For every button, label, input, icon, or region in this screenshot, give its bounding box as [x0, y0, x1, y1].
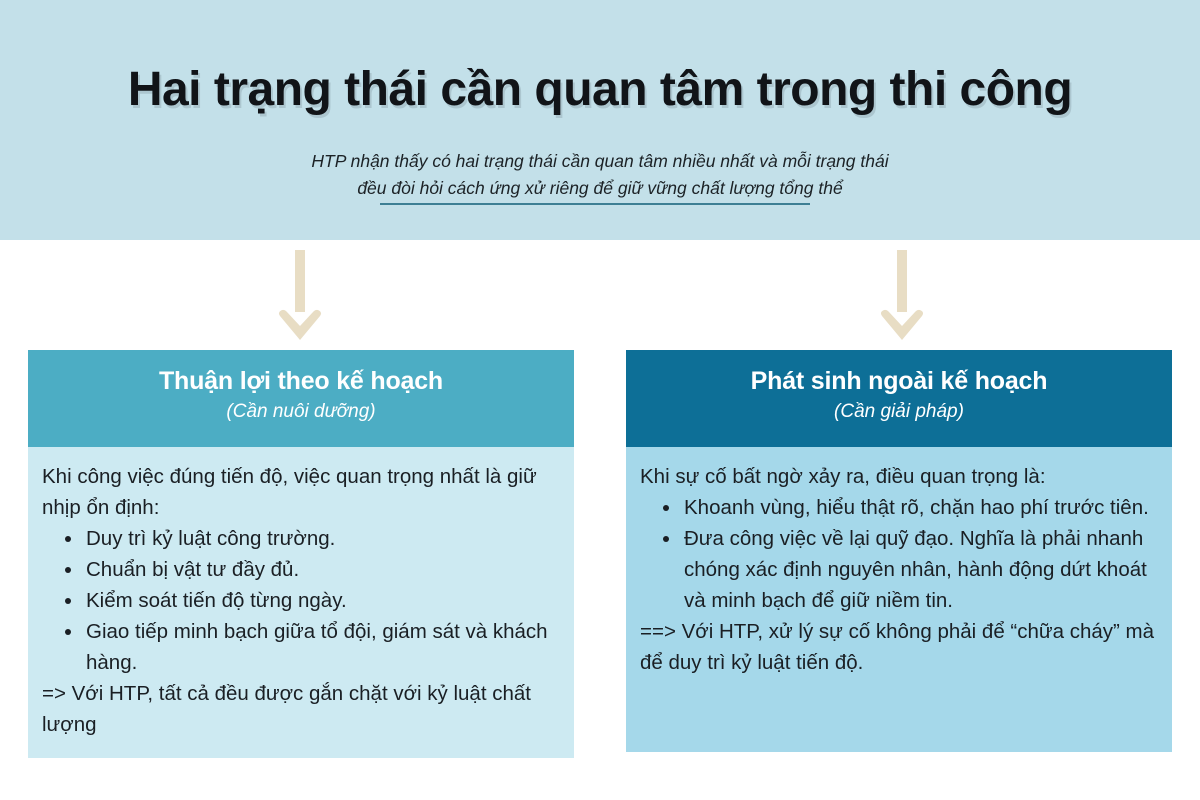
list-item: Chuẩn bị vật tư đầy đủ.: [84, 554, 558, 585]
list-item: Giao tiếp minh bạch giữa tổ đội, giám sá…: [84, 616, 558, 678]
card-intro-left: Khi công việc đúng tiến độ, việc quan tr…: [42, 461, 558, 523]
card-bullet-list-right: Khoanh vùng, hiểu thật rõ, chặn hao phí …: [640, 492, 1156, 616]
card-header-right: Phát sinh ngoài kế hoạch (Cần giải pháp): [626, 350, 1172, 447]
subtitle-underline-rule: [380, 203, 810, 205]
arrow-down-icon-right: [879, 250, 925, 345]
card-thuan-loi-theo-ke-hoach: Thuận lợi theo kế hoạch (Cần nuôi dưỡng)…: [28, 350, 574, 758]
list-item: Duy trì kỷ luật công trường.: [84, 523, 558, 554]
card-bullet-list-left: Duy trì kỷ luật công trường. Chuẩn bị vậ…: [42, 523, 558, 678]
arrow-down-icon: [879, 250, 925, 345]
page-subtitle-line-1: HTP nhận thấy có hai trạng thái cần quan…: [0, 148, 1200, 175]
header-band: Hai trạng thái cần quan tâm trong thi cô…: [0, 0, 1200, 240]
card-body-left: Khi công việc đúng tiến độ, việc quan tr…: [28, 447, 574, 758]
page-title: Hai trạng thái cần quan tâm trong thi cô…: [0, 62, 1200, 117]
card-intro-right: Khi sự cố bất ngờ xảy ra, điều quan trọn…: [640, 461, 1156, 492]
list-item: Kiểm soát tiến độ từng ngày.: [84, 585, 558, 616]
arrow-down-icon-left: [277, 250, 323, 345]
arrow-down-icon: [277, 250, 323, 345]
card-header-left: Thuận lợi theo kế hoạch (Cần nuôi dưỡng): [28, 350, 574, 447]
page-subtitle-line-2: đều đòi hỏi cách ứng xử riêng để giữ vữn…: [0, 175, 1200, 202]
card-body-right: Khi sự cố bất ngờ xảy ra, điều quan trọn…: [626, 447, 1172, 752]
card-subtitle-right: (Cần giải pháp): [626, 398, 1172, 426]
list-item: Đưa công việc về lại quỹ đạo. Nghĩa là p…: [682, 523, 1156, 616]
card-conclusion-left: => Với HTP, tất cả đều được gắn chặt với…: [42, 678, 558, 740]
page-subtitle: HTP nhận thấy có hai trạng thái cần quan…: [0, 148, 1200, 202]
card-title-right: Phát sinh ngoài kế hoạch: [626, 364, 1172, 398]
card-title-left: Thuận lợi theo kế hoạch: [28, 364, 574, 398]
card-subtitle-left: (Cần nuôi dưỡng): [28, 398, 574, 426]
card-conclusion-right: ==> Với HTP, xử lý sự cố không phải để “…: [640, 616, 1156, 678]
list-item: Khoanh vùng, hiểu thật rõ, chặn hao phí …: [682, 492, 1156, 523]
card-phat-sinh-ngoai-ke-hoach: Phát sinh ngoài kế hoạch (Cần giải pháp)…: [626, 350, 1172, 752]
